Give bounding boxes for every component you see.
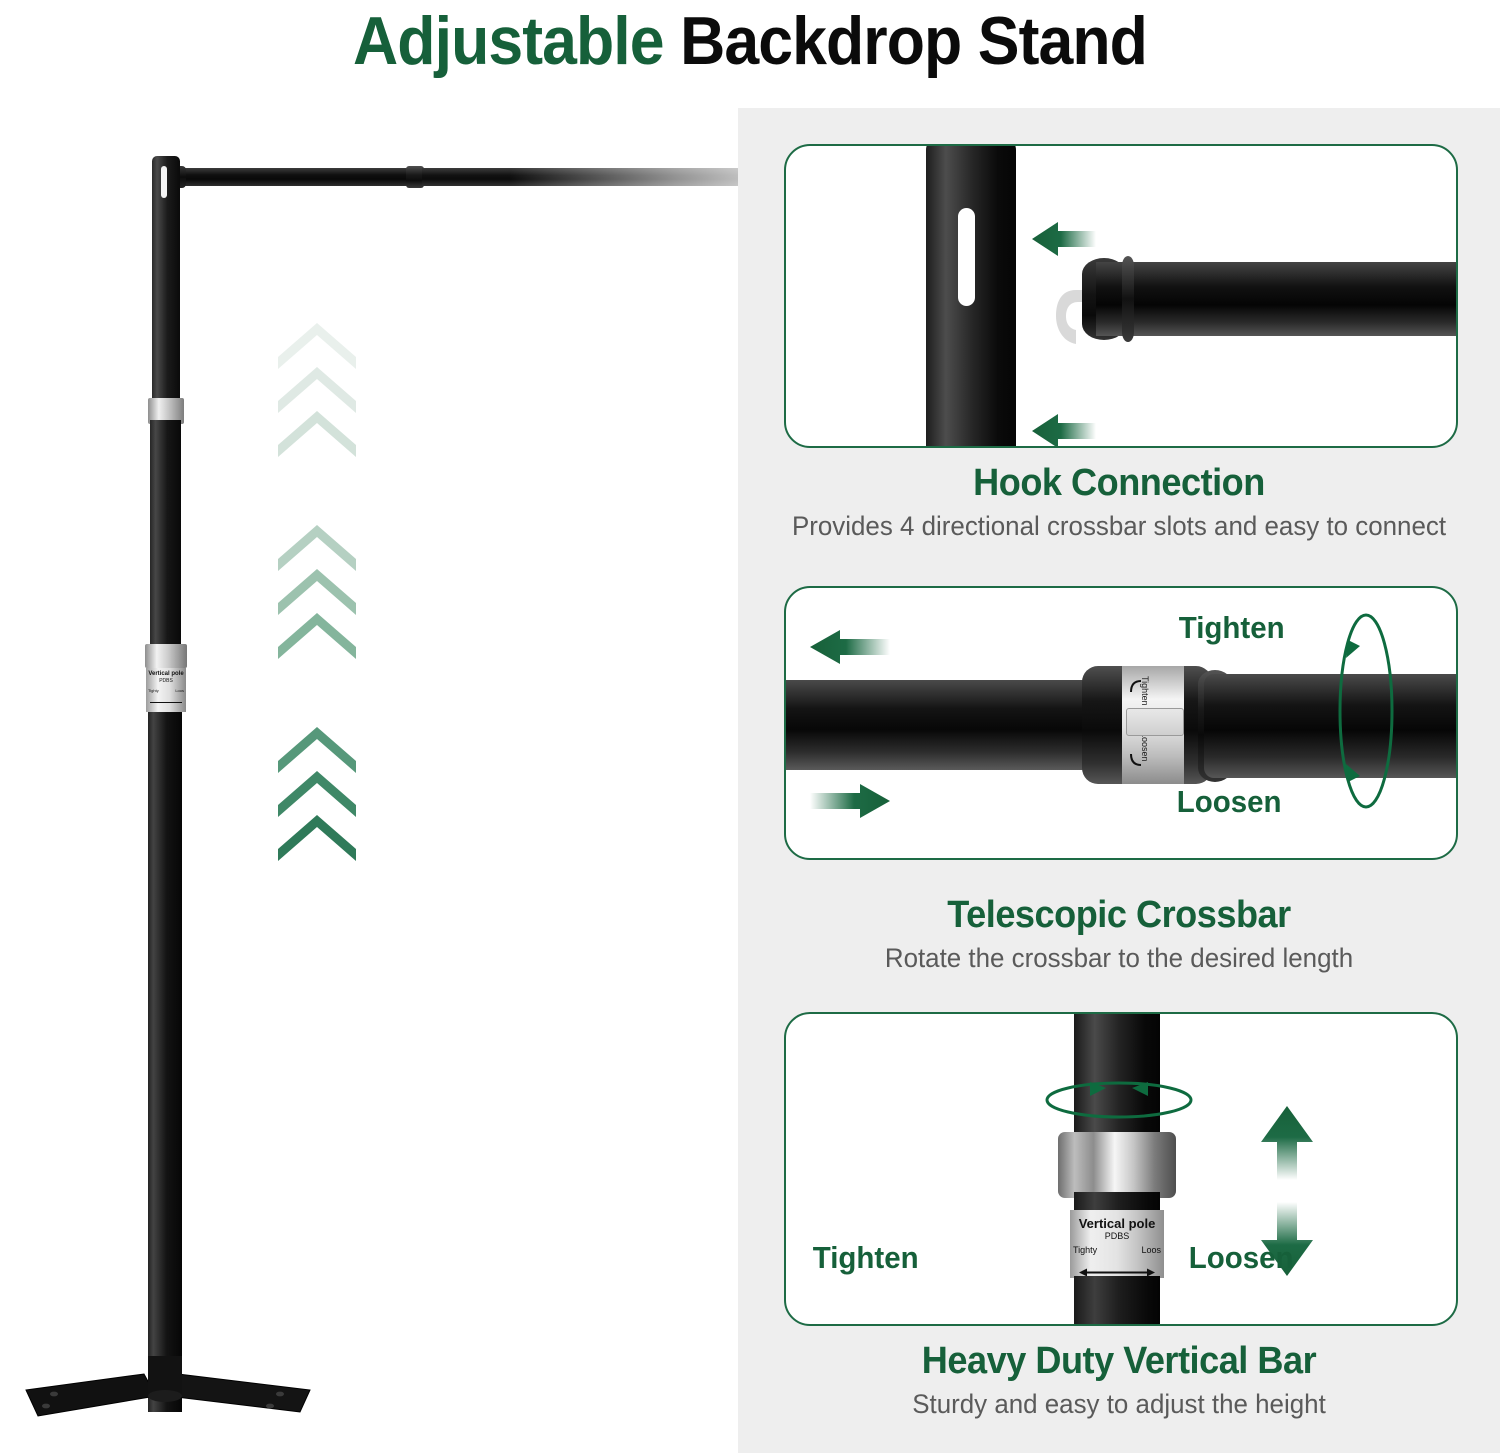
vertical-bar-foot-pole: [1074, 1276, 1160, 1326]
hero-pole-label-tighty: Tighty: [148, 688, 159, 693]
vertical-bar-label-tighten: Tighten: [813, 1240, 919, 1276]
hero-pole-label-loos: Loos: [175, 688, 184, 693]
hero-pole-label-line2: PDBS: [159, 678, 173, 684]
telescopic-left-bar: [784, 680, 1112, 770]
vertical-bar-label-loos: Loos: [1141, 1245, 1161, 1255]
vertical-bar-label-loosen: Loosen: [1189, 1240, 1294, 1276]
vertical-bar-label-tighty: Tighty: [1073, 1245, 1097, 1255]
telescopic-label-tighten: Tighten: [1179, 610, 1285, 646]
hero-pole-label-arrow: [150, 702, 182, 703]
hero-pole-label: Vertical pole PDBS Tighty Loos: [146, 668, 186, 712]
heading-telescopic-crossbar: Telescopic Crossbar: [757, 894, 1481, 937]
infographic-root: Adjustable Backdrop Stand Vertical pole …: [0, 0, 1500, 1453]
hook-panel-pole-slot: [958, 208, 975, 306]
crossbar-fade-overlay: [422, 166, 738, 188]
hero-base-plate: [18, 1356, 318, 1436]
vertical-bar-label-line1: Vertical pole: [1070, 1216, 1164, 1231]
title-part-adjustable: Adjustable: [353, 3, 664, 79]
hero-pole-label-line1: Vertical pole: [148, 671, 183, 678]
telescopic-arrow-left: [810, 630, 890, 664]
crossbar-inner-segment: [170, 168, 410, 186]
vertical-bar-label-line2: PDBS: [1070, 1231, 1164, 1241]
subtitle-heavy-duty-vertical-bar: Sturdy and easy to adjust the height: [753, 1387, 1485, 1421]
telescopic-collar-tighten-text: Tighten: [1140, 676, 1150, 706]
subtitle-telescopic-crossbar: Rotate the crossbar to the desired lengt…: [753, 941, 1485, 975]
telescopic-collar-window: [1126, 708, 1184, 736]
hook-panel-crossbar-ring: [1122, 256, 1134, 342]
panel-heavy-duty-vertical-bar: Vertical pole PDBS Tighty Loos: [784, 1012, 1458, 1326]
caption-hook-connection: Hook Connection Provides 4 directional c…: [738, 462, 1500, 543]
subtitle-hook-connection: Provides 4 directional crossbar slots an…: [753, 509, 1485, 543]
page-title: Adjustable Backdrop Stand: [60, 2, 1440, 80]
title-part-backdrop-stand: Backdrop Stand: [680, 3, 1147, 79]
heading-heavy-duty-vertical-bar: Heavy Duty Vertical Bar: [757, 1340, 1481, 1383]
feature-panels-column: Hook Connection Provides 4 directional c…: [738, 108, 1500, 1453]
hero-crossbar: [170, 166, 738, 188]
vertical-bar-adjust-nut: [1058, 1132, 1176, 1198]
vertical-bar-label-arrow: [1079, 1264, 1155, 1273]
hook-panel-crossbar: [1096, 262, 1456, 336]
hook-panel-arrow-left-top: [1032, 222, 1096, 256]
hero-pole-slot: [161, 166, 167, 198]
telescopic-collar-loosen-text: Loosen: [1140, 732, 1150, 762]
product-hero-image: Vertical pole PDBS Tighty Loos: [0, 108, 738, 1453]
vertical-bar-rotation-arrow: [1034, 1070, 1204, 1126]
hero-pole-middle-section: [150, 420, 181, 650]
telescopic-rotation-arrow: [1326, 606, 1406, 816]
caption-heavy-duty-vertical-bar: Heavy Duty Vertical Bar Sturdy and easy …: [738, 1340, 1500, 1421]
panel-telescopic-crossbar: Tighten Loosen: [784, 586, 1458, 860]
panel-hook-connection: [784, 144, 1458, 448]
hook-panel-arrow-left-bottom: [1032, 414, 1096, 448]
caption-telescopic-crossbar: Telescopic Crossbar Rotate the crossbar …: [738, 894, 1500, 975]
telescopic-label-loosen: Loosen: [1177, 784, 1282, 820]
hero-chevron-arrows: [278, 323, 368, 943]
telescopic-arrow-right: [810, 784, 890, 818]
vertical-bar-label: Vertical pole PDBS Tighty Loos: [1070, 1210, 1164, 1278]
heading-hook-connection: Hook Connection: [757, 462, 1481, 505]
hero-lower-collar: [145, 644, 187, 668]
hero-pole-lower-section: [148, 712, 182, 1412]
